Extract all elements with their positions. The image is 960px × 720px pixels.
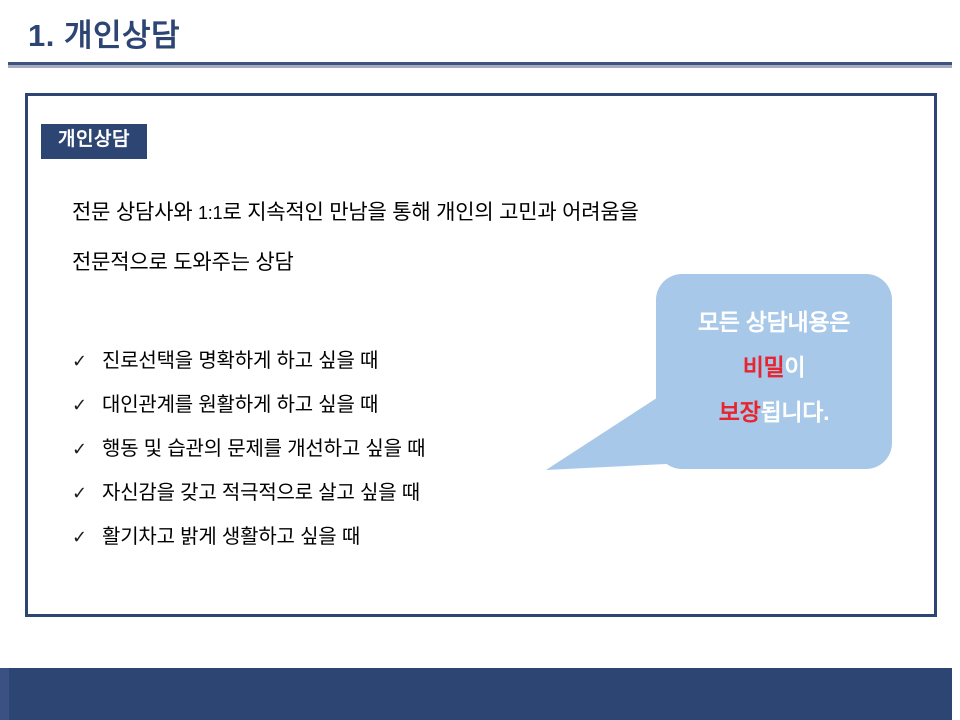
- list-item-label: 대인관계를 원활하게 하고 싶을 때: [102, 388, 378, 417]
- intro-line1-after: 로 지속적인 만남을 통해 개인의 고민과 어려움을: [222, 201, 638, 224]
- list-item-label: 행동 및 습관의 문제를 개선하고 싶을 때: [102, 432, 425, 461]
- footer-bar: [9, 668, 952, 720]
- list-item: ✓ 대인관계를 원활하게 하고 싶을 때: [72, 388, 425, 432]
- slide-header: 1. 개인상담: [0, 0, 960, 72]
- callout-line-3-rest: 됩니다.: [761, 399, 830, 425]
- page-title: 1. 개인상담: [28, 18, 180, 54]
- callout-highlight-secret: 비밀: [743, 354, 785, 380]
- title-underline-light: [8, 65, 952, 68]
- list-item: ✓ 진로선택을 명확하게 하고 싶을 때: [72, 344, 425, 388]
- callout-line-3: 보장됩니다.: [656, 390, 892, 435]
- list-item-label: 자신감을 갖고 적극적으로 살고 싶을 때: [102, 476, 420, 505]
- benefit-check-list: ✓ 진로선택을 명확하게 하고 싶을 때 ✓ 대인관계를 원활하게 하고 싶을 …: [72, 344, 425, 564]
- confidentiality-callout: 모든 상담내용은 비밀이 보장됩니다.: [656, 274, 892, 469]
- list-item: ✓ 자신감을 갖고 적극적으로 살고 싶을 때: [72, 476, 425, 520]
- check-icon: ✓: [72, 352, 102, 370]
- check-icon: ✓: [72, 440, 102, 458]
- list-item: ✓ 행동 및 습관의 문제를 개선하고 싶을 때: [72, 432, 425, 476]
- intro-line1-before: 전문 상담사와: [72, 201, 198, 224]
- intro-paragraph: 전문 상담사와 1:1로 지속적인 만남을 통해 개인의 고민과 어려움을 전문…: [72, 188, 852, 288]
- callout-line-2: 비밀이: [656, 345, 892, 390]
- list-item-label: 활기차고 밝게 생활하고 싶을 때: [102, 520, 360, 549]
- callout-line-1: 모든 상담내용은: [656, 300, 892, 345]
- content-panel: 개인상담 전문 상담사와 1:1로 지속적인 만남을 통해 개인의 고민과 어려…: [25, 93, 937, 617]
- intro-line2: 전문적으로 도와주는 상담: [72, 251, 294, 274]
- callout-line-2-rest: 이: [784, 354, 805, 380]
- footer-accent-strip: [0, 668, 9, 720]
- slide-canvas: 1. 개인상담 개인상담 전문 상담사와 1:1로 지속적인 만남을 통해 개인…: [0, 0, 960, 720]
- check-icon: ✓: [72, 528, 102, 546]
- section-badge: 개인상담: [41, 124, 147, 159]
- list-item: ✓ 활기차고 밝게 생활하고 싶을 때: [72, 520, 425, 564]
- intro-ratio: 1:1: [198, 203, 222, 223]
- check-icon: ✓: [72, 484, 102, 502]
- footer-right-edge: [952, 668, 960, 720]
- list-item-label: 진로선택을 명확하게 하고 싶을 때: [102, 344, 378, 373]
- check-icon: ✓: [72, 396, 102, 414]
- callout-tail-icon: [546, 392, 666, 472]
- callout-highlight-guarantee: 보장: [719, 399, 761, 425]
